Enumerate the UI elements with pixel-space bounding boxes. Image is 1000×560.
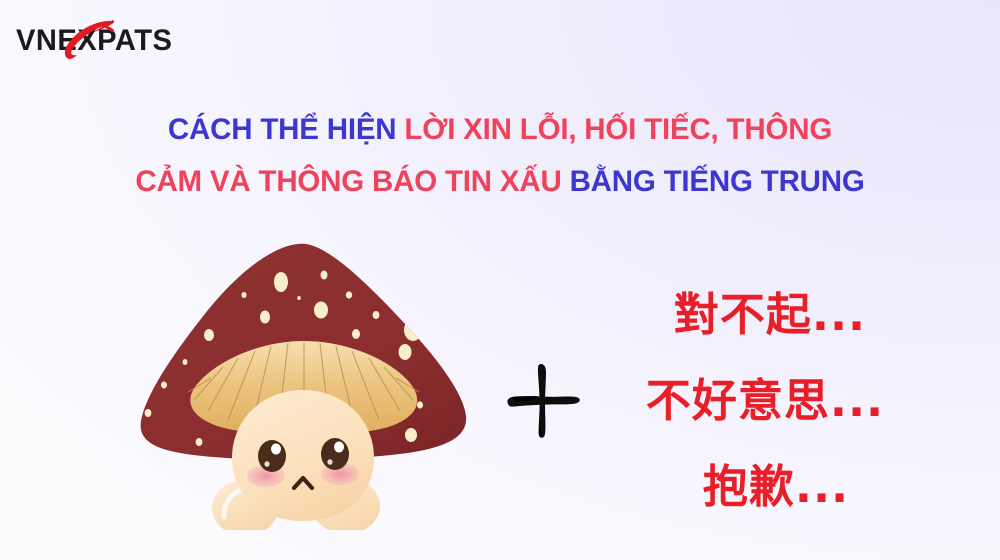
chinese-phrase-2: 不好意思... (600, 358, 930, 444)
title-line2-pink: CẢM VÀ THÔNG BÁO TIN XẤU (135, 165, 569, 198)
title-line1-blue: CÁCH THỂ HIỆN (168, 113, 404, 146)
mushroom-face (232, 390, 374, 521)
slide-canvas: VNEXPATS CÁCH THỂ HIỆN LỜI XIN LỖI, HỐI … (0, 0, 1000, 560)
mushroom-character-illustration (128, 230, 480, 530)
chinese-phrase-3: 抱歉... (600, 444, 930, 530)
brand-logo: VNEXPATS (16, 18, 196, 62)
page-title: CÁCH THỂ HIỆN LỜI XIN LỖI, HỐI TIẾC, THÔ… (0, 104, 1000, 208)
brand-wordmark: VNEXPATS (16, 24, 172, 58)
title-line-2: CẢM VÀ THÔNG BÁO TIN XẤU BẰNG TIẾNG TRUN… (0, 156, 1000, 208)
title-line-1: CÁCH THỂ HIỆN LỜI XIN LỖI, HỐI TIẾC, THÔ… (0, 104, 1000, 156)
title-line1-pink: LỜI XIN LỖI, HỐI TIẾC, THÔNG (404, 113, 832, 146)
chinese-phrases-list: 對不起... 不好意思... 抱歉... (600, 272, 930, 530)
plus-sign-icon (500, 360, 584, 440)
title-line2-blue: BẰNG TIẾNG TRUNG (570, 165, 865, 198)
chinese-phrase-1: 對不起... (600, 272, 930, 358)
